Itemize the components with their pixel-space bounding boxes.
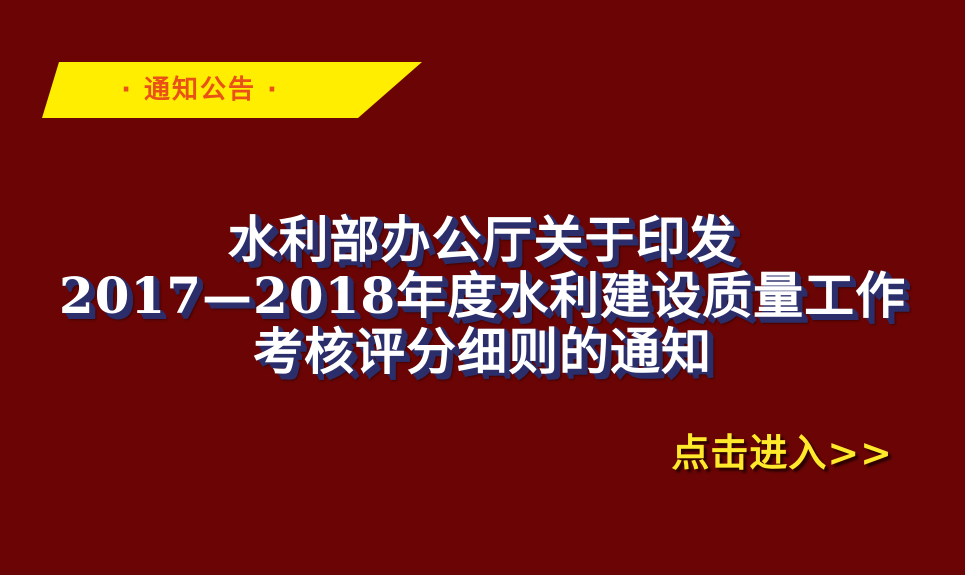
banner-label: · 通知公告 · bbox=[42, 62, 358, 118]
headline-line-3: 考核评分细则的通知 bbox=[0, 324, 965, 380]
headline-line-1: 水利部办公厅关于印发 bbox=[0, 212, 965, 268]
section-banner: · 通知公告 · bbox=[42, 62, 422, 118]
click-to-enter-link[interactable]: 点击进入>> bbox=[671, 432, 893, 474]
headline-line-2: 2017—2018年度水利建设质量工作 bbox=[0, 268, 965, 324]
enter-link-container: 点击进入>> bbox=[0, 432, 965, 474]
announcement-headline: 水利部办公厅关于印发 2017—2018年度水利建设质量工作 考核评分细则的通知 bbox=[0, 212, 965, 380]
announcement-banner-slide: · 通知公告 · 水利部办公厅关于印发 2017—2018年度水利建设质量工作 … bbox=[0, 0, 965, 575]
